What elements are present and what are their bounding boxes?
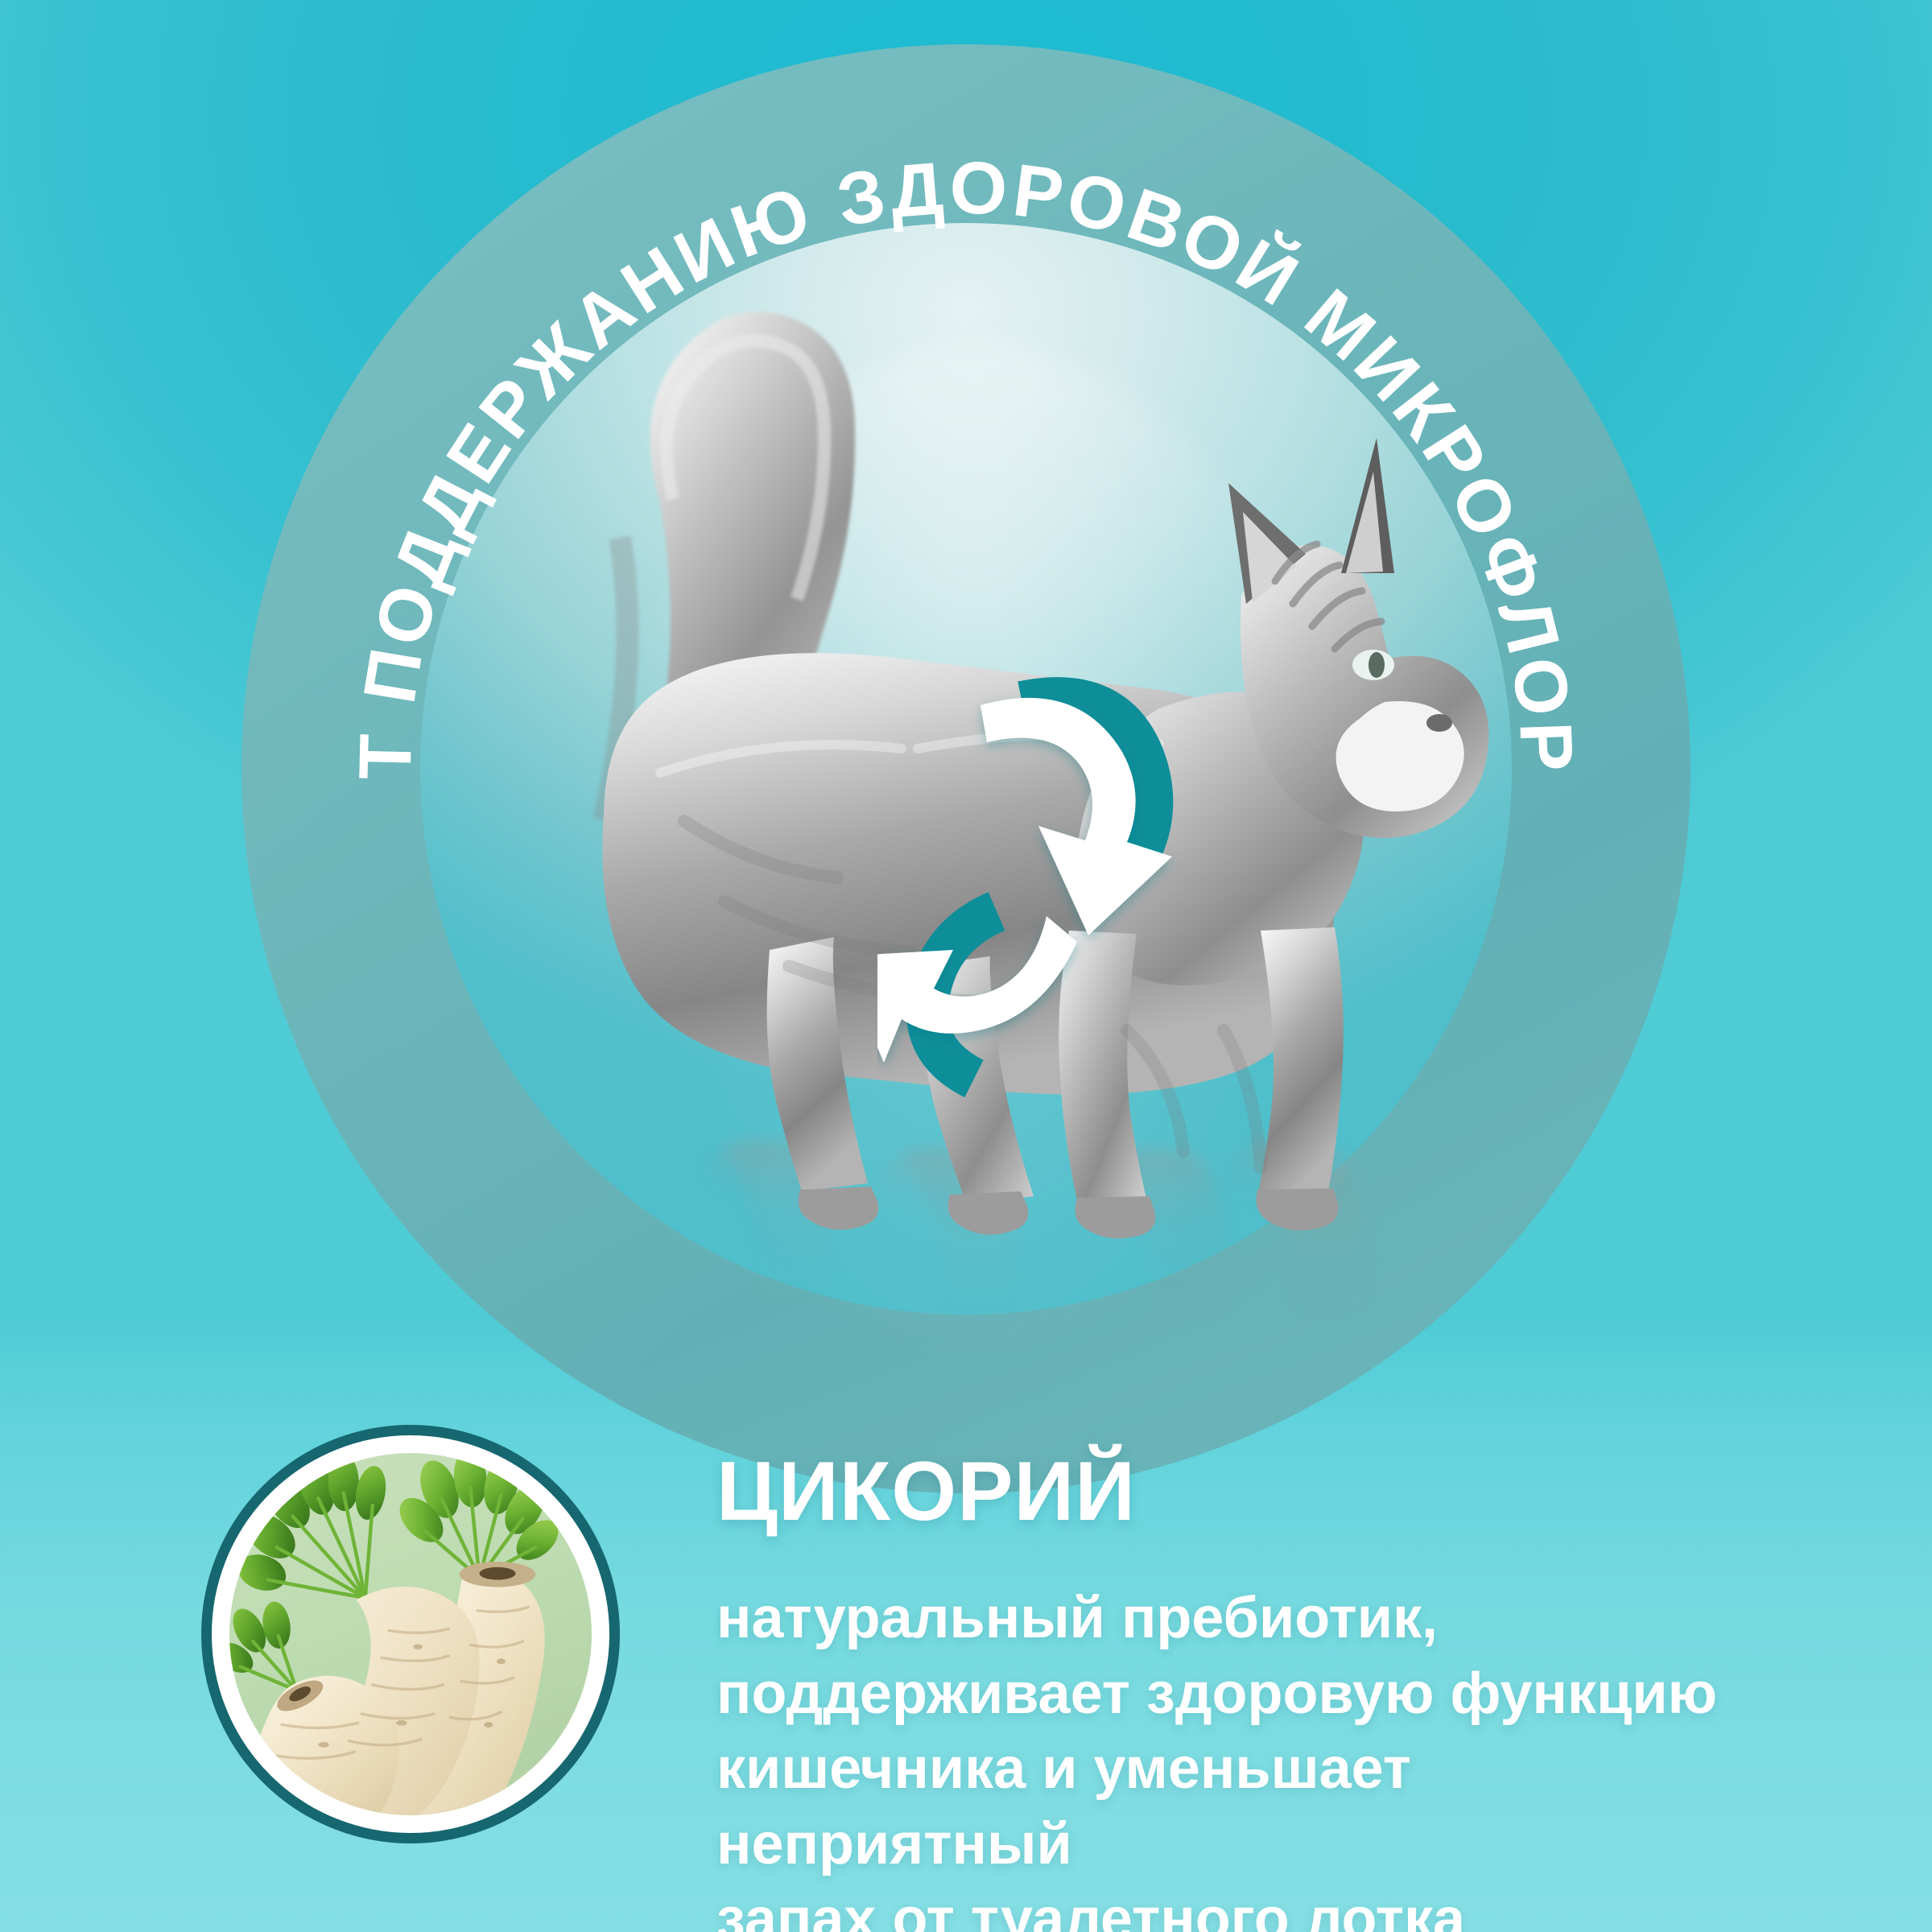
feature-description-line: поддерживает здоровую функцию (716, 1662, 1717, 1726)
chicory-leaves-right (391, 1453, 566, 1578)
chicory-leaves-lower (229, 1600, 296, 1690)
feature-description-line: запах от туалетного лотка (716, 1887, 1465, 1932)
feature-description-line: натуральный пребиотик, (716, 1586, 1438, 1650)
digestion-cycle-arrows (877, 676, 1296, 1143)
feature-description-line: кишечника и уменьшает неприятный (716, 1736, 1411, 1876)
chicory-photo (229, 1453, 592, 1815)
chicory-badge (201, 1425, 620, 1843)
feature-text-block: ЦИКОРИЙ натуральный пребиотик, поддержив… (716, 1449, 1843, 1932)
chicory-leaves-left (233, 1453, 390, 1598)
feature-title: ЦИКОРИЙ (716, 1449, 1843, 1534)
feature-description: натуральный пребиотик, поддерживает здор… (716, 1581, 1771, 1932)
